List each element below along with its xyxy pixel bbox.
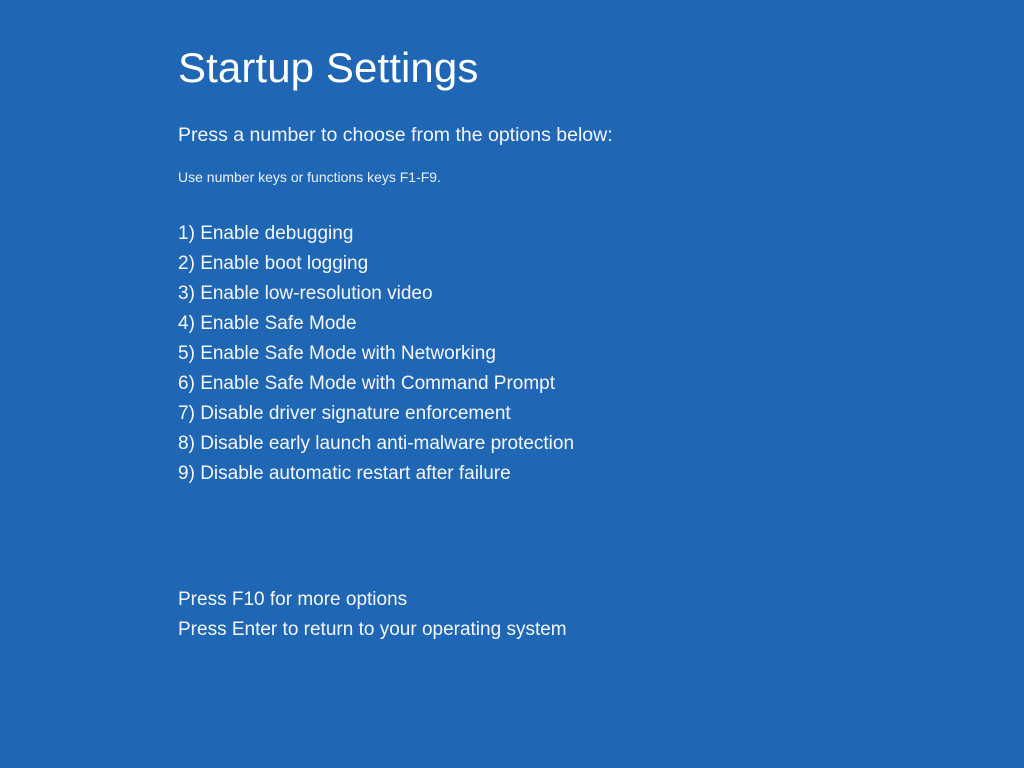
option-number-9: 9) bbox=[178, 463, 200, 484]
content-container: Startup Settings Press a number to choos… bbox=[178, 42, 938, 645]
option-label-9: Disable automatic restart after failure bbox=[200, 463, 510, 484]
option-number-8: 8) bbox=[178, 433, 200, 454]
option-number-3: 3) bbox=[178, 283, 200, 304]
option-item-4[interactable]: 4) Enable Safe Mode bbox=[178, 309, 938, 339]
option-item-7[interactable]: 7) Disable driver signature enforcement bbox=[178, 399, 938, 429]
option-number-7: 7) bbox=[178, 403, 200, 424]
option-item-5[interactable]: 5) Enable Safe Mode with Networking bbox=[178, 339, 938, 369]
option-item-3[interactable]: 3) Enable low-resolution video bbox=[178, 279, 938, 309]
option-label-3: Enable low-resolution video bbox=[200, 283, 432, 304]
option-number-1: 1) bbox=[178, 223, 200, 244]
startup-settings-screen: Startup Settings Press a number to choos… bbox=[0, 0, 1024, 768]
option-item-6[interactable]: 6) Enable Safe Mode with Command Prompt bbox=[178, 369, 938, 399]
more-options-instruction[interactable]: Press F10 for more options bbox=[178, 585, 938, 615]
footer-instructions: Press F10 for more options Press Enter t… bbox=[178, 585, 938, 645]
return-to-os-instruction[interactable]: Press Enter to return to your operating … bbox=[178, 615, 938, 645]
option-number-4: 4) bbox=[178, 313, 200, 334]
option-label-8: Disable early launch anti-malware protec… bbox=[200, 433, 574, 454]
option-item-2[interactable]: 2) Enable boot logging bbox=[178, 249, 938, 279]
option-number-2: 2) bbox=[178, 253, 200, 274]
option-item-9[interactable]: 9) Disable automatic restart after failu… bbox=[178, 459, 938, 489]
option-label-5: Enable Safe Mode with Networking bbox=[200, 343, 496, 364]
option-label-7: Disable driver signature enforcement bbox=[200, 403, 511, 424]
option-number-6: 6) bbox=[178, 373, 200, 394]
option-label-4: Enable Safe Mode bbox=[200, 313, 356, 334]
keyboard-hint-text: Use number keys or functions keys F1-F9. bbox=[178, 167, 938, 187]
option-item-8[interactable]: 8) Disable early launch anti-malware pro… bbox=[178, 429, 938, 459]
startup-options-list: 1) Enable debugging 2) Enable boot loggi… bbox=[178, 219, 938, 489]
option-label-6: Enable Safe Mode with Command Prompt bbox=[200, 373, 555, 394]
option-item-1[interactable]: 1) Enable debugging bbox=[178, 219, 938, 249]
instruction-subtitle: Press a number to choose from the option… bbox=[178, 122, 938, 148]
option-label-1: Enable debugging bbox=[200, 223, 353, 244]
option-number-5: 5) bbox=[178, 343, 200, 364]
option-label-2: Enable boot logging bbox=[200, 253, 368, 274]
page-title: Startup Settings bbox=[178, 42, 938, 94]
